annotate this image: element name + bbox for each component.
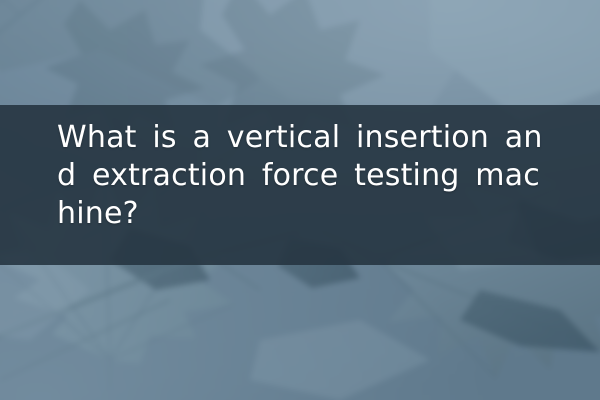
- caption-line-1: What is a vertical insertion an: [57, 119, 548, 157]
- caption-text-block: What is a vertical insertion an d extrac…: [0, 105, 600, 265]
- caption-line-2: d extraction force testing mac: [57, 157, 548, 195]
- image-banner: What is a vertical insertion an d extrac…: [0, 0, 600, 400]
- caption-line-3: hine?: [57, 195, 548, 233]
